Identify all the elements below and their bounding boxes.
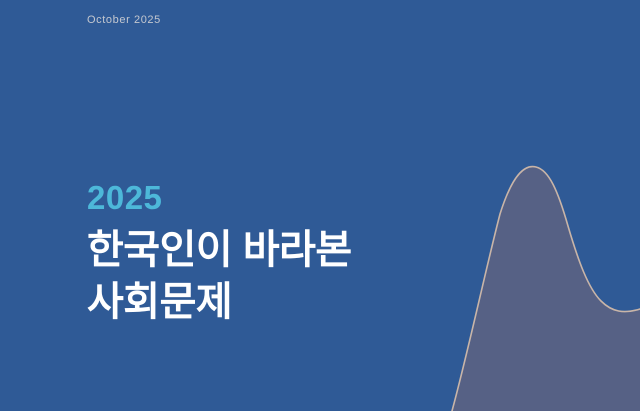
year-heading: 2025 [87,180,507,216]
title-block: 2025 한국인이 바라본 사회문제 [87,180,507,329]
date-label: October 2025 [87,14,161,26]
title-slide: October 2025 2025 한국인이 바라본 사회문제 [0,0,640,411]
title-line-2: 사회문제 [87,276,507,329]
title-line-1: 한국인이 바라본 [87,224,507,277]
